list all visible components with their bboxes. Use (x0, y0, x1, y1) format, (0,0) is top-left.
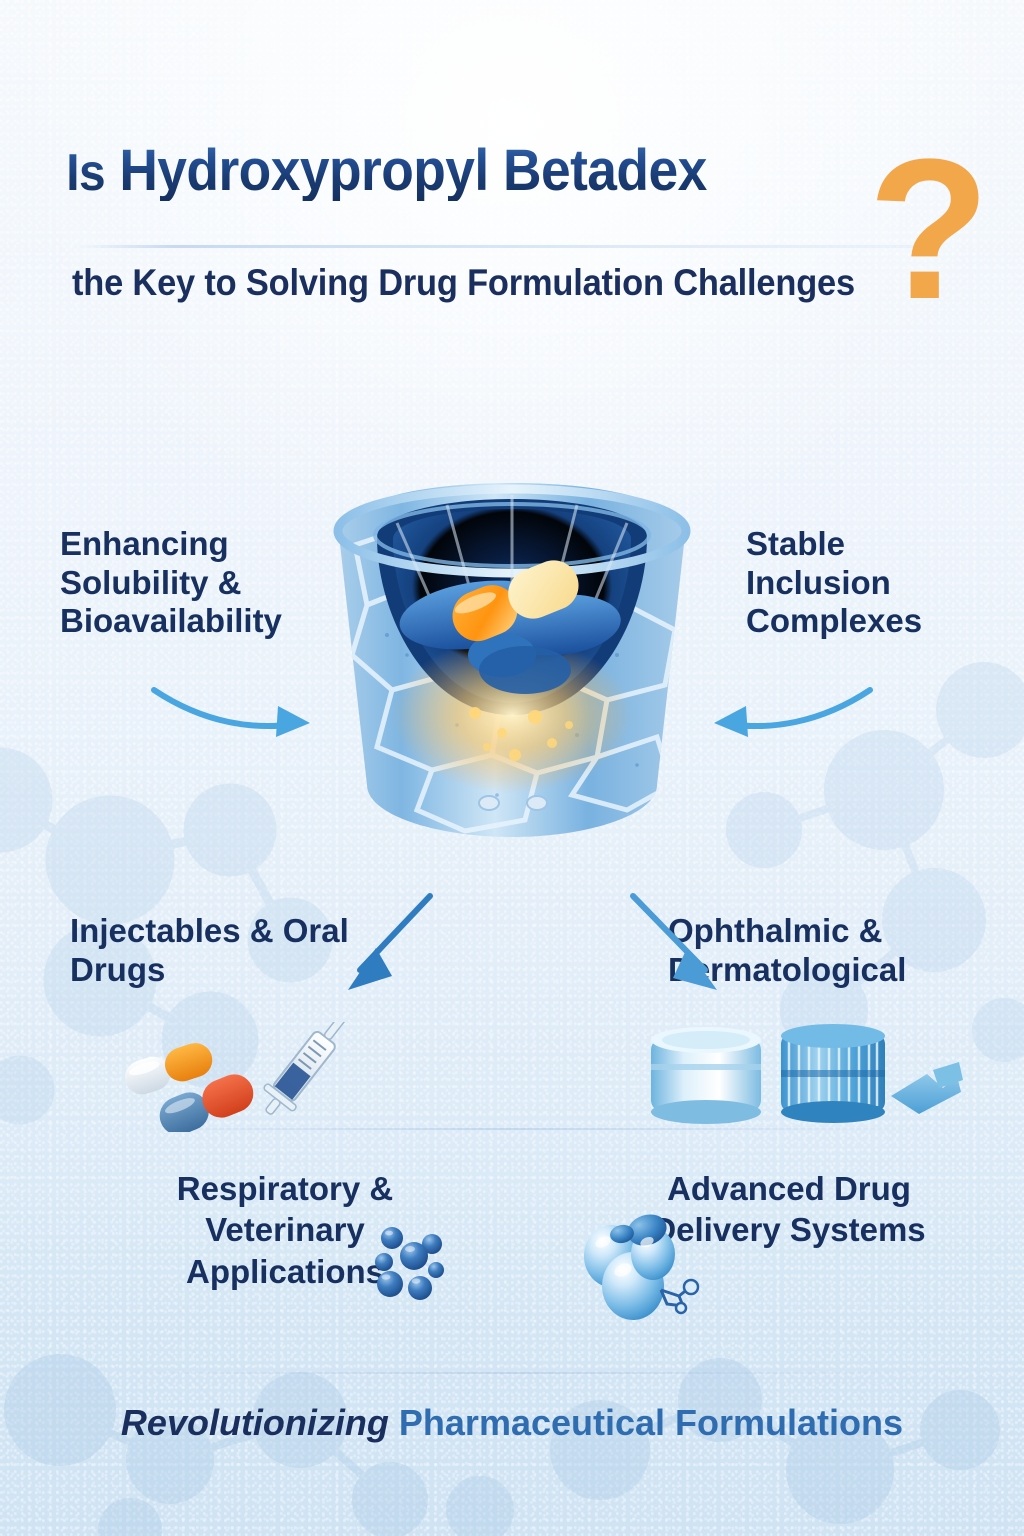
page-subtitle: the Key to Solving Drug Formulation Chal… (72, 262, 890, 304)
page-title: Is Hydroxypropyl Betadex (0, 140, 942, 201)
arrow-down-left-icon (330, 890, 440, 1000)
middle-section: Injectables & Oral Drugs (0, 890, 1024, 1140)
cyclodextrin-cone-icon (297, 465, 727, 865)
footer-rest: Pharmaceutical Formulations (389, 1402, 903, 1443)
title-lead: Is (66, 144, 105, 202)
liposome-vesicles-icon (575, 1210, 725, 1330)
bottom-section: Respiratory & Veterinary Applications (0, 1160, 1024, 1360)
hero-section: Enhancing Solubility & Bioavailability S… (0, 455, 1024, 875)
footer-tagline: Revolutionizing Pharmaceutical Formulati… (0, 1402, 1024, 1444)
arrow-down-right-icon (625, 890, 735, 1000)
title-divider (72, 245, 932, 248)
molecule-spheres-icon (362, 1222, 454, 1314)
cream-jars-icon (645, 1018, 965, 1128)
title-main: Hydroxypropyl Betadex (119, 138, 706, 203)
curved-arrow-left-icon (704, 680, 874, 740)
curved-arrow-right-icon (150, 680, 320, 740)
question-mark-icon: ? (868, 130, 990, 330)
footer-emphasis: Revolutionizing (121, 1402, 389, 1443)
infographic-poster: Is Hydroxypropyl Betadex the Key to Solv… (0, 0, 1024, 1536)
hero-right-label: Stable Inclusion Complexes (746, 525, 976, 641)
header: Is Hydroxypropyl Betadex the Key to Solv… (0, 140, 1024, 201)
hero-left-label: Enhancing Solubility & Bioavailability (60, 525, 330, 641)
capsules-and-syringe-icon (90, 1022, 390, 1132)
section-divider-lower (90, 1372, 934, 1374)
